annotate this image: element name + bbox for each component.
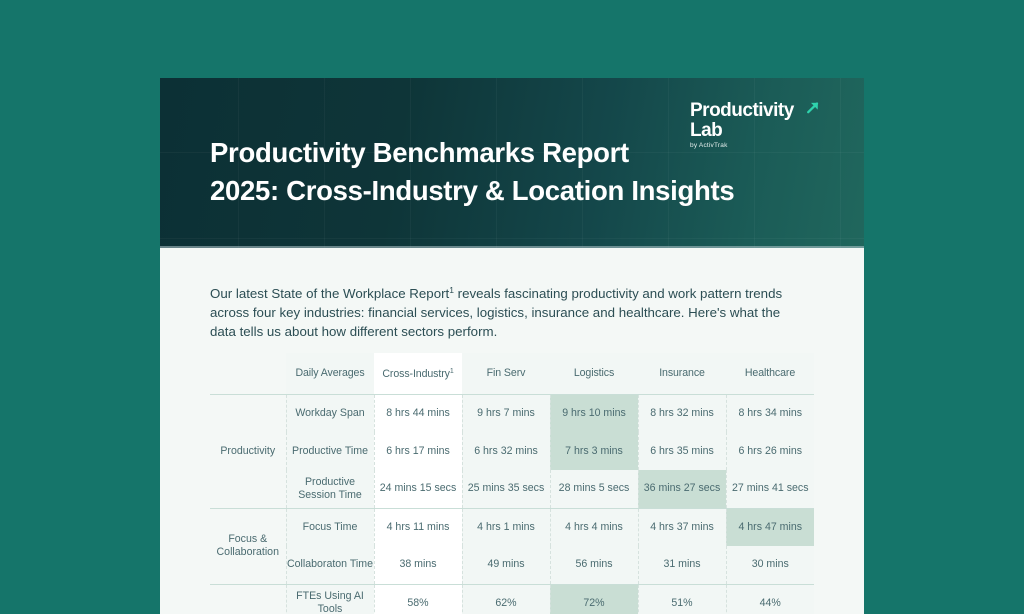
table-cell-healthcare: 4 hrs 47 mins: [726, 508, 814, 546]
table-row: Focus & CollaborationFocus Time4 hrs 11 …: [210, 508, 814, 546]
table-row: Productive Time6 hrs 17 mins6 hrs 32 min…: [210, 432, 814, 470]
metric-label: Focus Time: [286, 508, 374, 546]
intro-text-before: Our latest State of the Workplace Report: [210, 286, 449, 301]
header-cell-logistics: Logistics: [550, 353, 638, 394]
table-cell-logistics: 4 hrs 4 mins: [550, 508, 638, 546]
table-row: Collaboraton Time38 mins49 mins56 mins31…: [210, 546, 814, 584]
page-title: Productivity Benchmarks Report 2025: Cro…: [210, 134, 734, 210]
metric-label: Collaboraton Time: [286, 546, 374, 584]
table-cell-logistics: 28 mins 5 secs: [550, 470, 638, 508]
table-cell-insurance: 4 hrs 37 mins: [638, 508, 726, 546]
table-cell-logistics: 7 hrs 3 mins: [550, 432, 638, 470]
table-cell-healthcare: 30 mins: [726, 546, 814, 584]
table-cell-healthcare: 44%: [726, 584, 814, 614]
table-cell-insurance: 51%: [638, 584, 726, 614]
table-cell-insurance: 8 hrs 32 mins: [638, 394, 726, 432]
table-cell-healthcare: 8 hrs 34 mins: [726, 394, 814, 432]
table-cell-cross_industry: 58%: [374, 584, 462, 614]
table-cell-cross_industry: 6 hrs 17 mins: [374, 432, 462, 470]
row-group-label: Productivity: [210, 394, 286, 508]
table-cell-insurance: 36 mins 27 secs: [638, 470, 726, 508]
metric-label: Productive Session Time: [286, 470, 374, 508]
report-banner: Productivity Benchmarks Report 2025: Cro…: [160, 78, 864, 248]
header-footnote-marker: 1: [450, 368, 454, 375]
table-cell-fin_serv: 6 hrs 32 mins: [462, 432, 550, 470]
header-cell-cross-industry: Cross-Industry1: [374, 353, 462, 394]
table-body: ProductivityWorkday Span8 hrs 44 mins9 h…: [210, 394, 814, 614]
table-row: ProductivityWorkday Span8 hrs 44 mins9 h…: [210, 394, 814, 432]
metric-label: FTEs Using AI Tools: [286, 584, 374, 614]
benchmarks-table-wrapper: Daily Averages Cross-Industry1 Fin Serv …: [210, 353, 814, 614]
report-card: Productivity Benchmarks Report 2025: Cro…: [160, 78, 864, 614]
table-cell-fin_serv: 49 mins: [462, 546, 550, 584]
header-cell-healthcare: Healthcare: [726, 353, 814, 394]
logo-line-2: Lab: [690, 121, 818, 140]
productivity-lab-logo: Productivity Lab by ActivTrak: [690, 101, 818, 149]
table-cell-logistics: 56 mins: [550, 546, 638, 584]
table-cell-healthcare: 6 hrs 26 mins: [726, 432, 814, 470]
table-cell-logistics: 9 hrs 10 mins: [550, 394, 638, 432]
intro-paragraph: Our latest State of the Workplace Report…: [210, 281, 802, 341]
arrow-up-right-icon: [806, 101, 820, 115]
table-cell-cross_industry: 24 mins 15 secs: [374, 470, 462, 508]
table-row: Productive Session Time24 mins 15 secs25…: [210, 470, 814, 508]
table-header-row: Daily Averages Cross-Industry1 Fin Serv …: [210, 353, 814, 394]
logo-line-1: Productivity: [690, 101, 818, 120]
table-cell-cross_industry: 8 hrs 44 mins: [374, 394, 462, 432]
table-cell-insurance: 31 mins: [638, 546, 726, 584]
header-cell-daily-averages: Daily Averages: [286, 353, 374, 394]
logo-subtitle: by ActivTrak: [690, 142, 818, 149]
table-cell-fin_serv: 62%: [462, 584, 550, 614]
table-cell-cross_industry: 4 hrs 11 mins: [374, 508, 462, 546]
header-cell-insurance: Insurance: [638, 353, 726, 394]
header-cell-group: [210, 353, 286, 394]
table-header: Daily Averages Cross-Industry1 Fin Serv …: [210, 353, 814, 394]
table-cell-healthcare: 27 mins 41 secs: [726, 470, 814, 508]
table-cell-fin_serv: 4 hrs 1 mins: [462, 508, 550, 546]
metric-label: Productive Time: [286, 432, 374, 470]
table-cell-cross_industry: 38 mins: [374, 546, 462, 584]
banner-bottom-rule: [160, 246, 864, 248]
header-cell-fin-serv: Fin Serv: [462, 353, 550, 394]
table-cell-logistics: 72%: [550, 584, 638, 614]
row-group-label: [210, 584, 286, 614]
table-cell-fin_serv: 25 mins 35 secs: [462, 470, 550, 508]
metric-label: Workday Span: [286, 394, 374, 432]
table-cell-fin_serv: 9 hrs 7 mins: [462, 394, 550, 432]
benchmarks-table: Daily Averages Cross-Industry1 Fin Serv …: [210, 353, 814, 614]
table-cell-insurance: 6 hrs 35 mins: [638, 432, 726, 470]
table-row: FTEs Using AI Tools58%62%72%51%44%: [210, 584, 814, 614]
row-group-label: Focus & Collaboration: [210, 508, 286, 584]
